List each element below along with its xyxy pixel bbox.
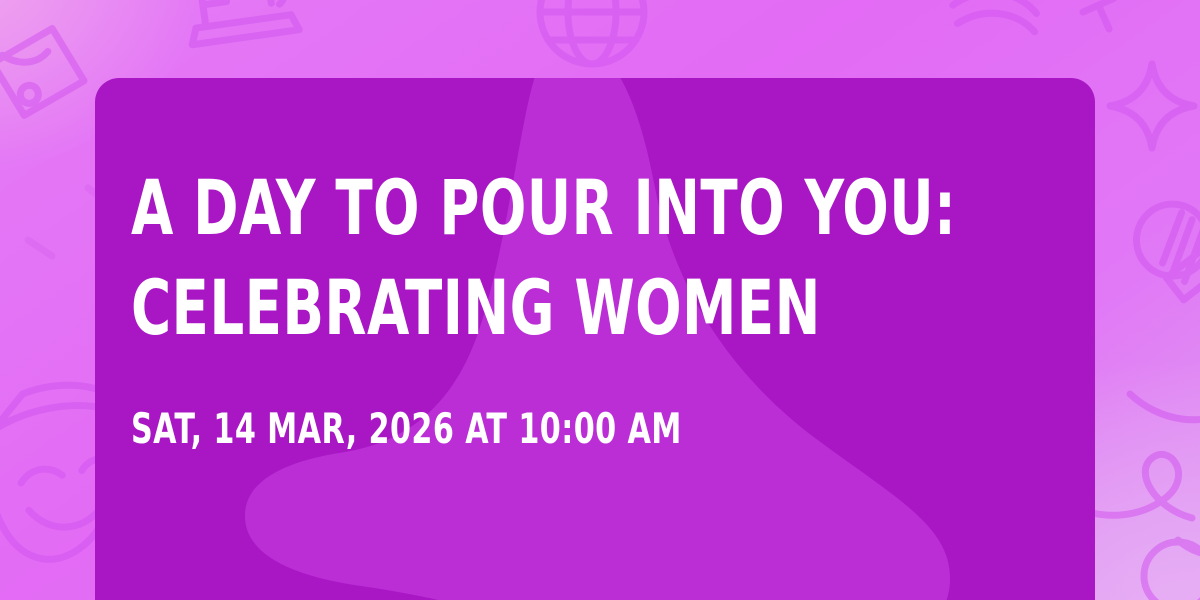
event-card: A DAY TO POUR INTO YOU: CELEBRATING WOME…: [95, 78, 1095, 600]
event-banner: A DAY TO POUR INTO YOU: CELEBRATING WOME…: [0, 0, 1200, 600]
card-content: A DAY TO POUR INTO YOU: CELEBRATING WOME…: [131, 158, 1055, 454]
confetti-icon: [948, 0, 1050, 47]
event-date: SAT, 14 MAR, 2026 AT 10:00 AM: [131, 404, 870, 454]
globe-icon: [540, 0, 644, 64]
sparkle-icon: [1110, 64, 1194, 148]
event-title-line-1: A DAY TO POUR INTO YOU:: [131, 158, 870, 258]
lamp-icon: [1083, 0, 1125, 36]
microphone-icon: [1122, 190, 1200, 332]
ticket-icon: [0, 24, 88, 119]
event-title-line-2: CELEBRATING WOMEN: [131, 258, 870, 358]
sewing-machine-icon: [185, 0, 299, 45]
